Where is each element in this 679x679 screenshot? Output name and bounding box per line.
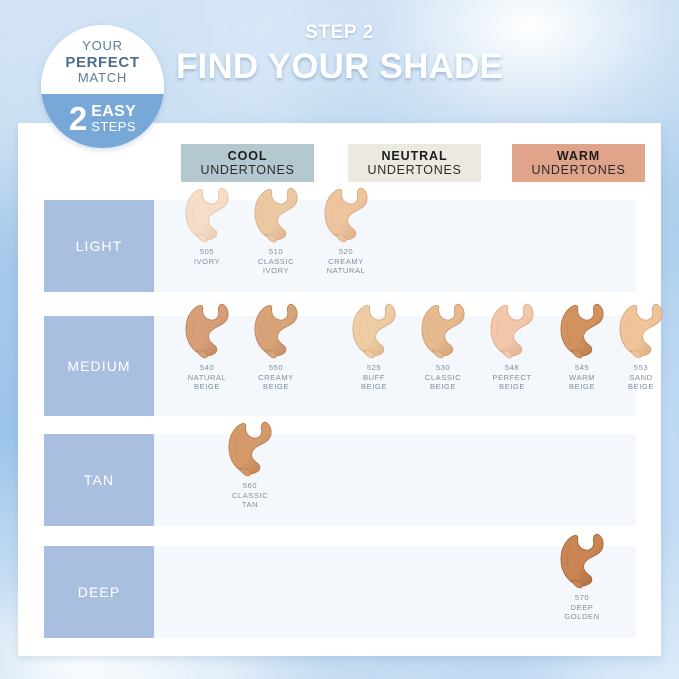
shade-caption: 553SAND BEIGE — [628, 363, 654, 392]
column-headers: COOL UNDERTONES NEUTRAL UNDERTONES WARM … — [18, 144, 661, 182]
shade-caption: 570DEEP GOLDEN — [564, 593, 599, 622]
shade-caption: 520CREAMY NATURAL — [327, 247, 366, 276]
column-header-warm-sub: UNDERTONES — [531, 163, 625, 177]
badge-top-half: YOUR PERFECT MATCH — [41, 25, 164, 94]
shade-row: TAN 560CLASSIC TAN — [44, 434, 636, 526]
shade-code: 553 — [628, 363, 654, 373]
badge-step-number: 2 — [69, 104, 87, 134]
shade-swatch[interactable]: 510CLASSIC IVORY — [242, 200, 310, 292]
foundation-smear-icon — [347, 300, 401, 362]
shade-code: 510 — [258, 247, 294, 257]
shade-swatch[interactable]: 545WARM BEIGE — [548, 316, 616, 416]
row-label-medium: MEDIUM — [44, 316, 154, 416]
shade-caption: 505IVORY — [194, 247, 220, 266]
badge-perfect-label: PERFECT — [65, 54, 139, 71]
column-header-neutral-sub: UNDERTONES — [367, 163, 461, 177]
foundation-smear-icon — [614, 300, 668, 362]
shade-swatch[interactable]: 530CLASSIC BEIGE — [409, 316, 477, 416]
column-header-cool: COOL UNDERTONES — [181, 144, 314, 182]
badge-match-label: MATCH — [78, 71, 127, 86]
foundation-smear-icon — [223, 418, 277, 480]
shade-caption: 548PERFECT BEIGE — [492, 363, 531, 392]
shade-row: LIGHT 505IVORY 510CLASSIC IVORY — [44, 200, 636, 292]
shade-swatch[interactable]: 540NATURAL BEIGE — [173, 316, 241, 416]
badge-steps-stack: EASY STEPS — [91, 104, 136, 133]
column-header-warm: WARM UNDERTONES — [512, 144, 645, 182]
shade-code: 545 — [569, 363, 595, 373]
shade-swatch[interactable]: 550CREAMY BEIGE — [242, 316, 310, 416]
perfect-match-badge: YOUR PERFECT MATCH 2 EASY STEPS — [41, 25, 164, 148]
foundation-smear-icon — [249, 300, 303, 362]
shade-swatch[interactable]: 525BUFF BEIGE — [340, 316, 408, 416]
shade-swatch[interactable]: 553SAND BEIGE — [607, 316, 675, 416]
infographic-canvas: STEP 2 FIND YOUR SHADE YOUR PERFECT MATC… — [0, 0, 679, 679]
shade-swatch[interactable]: 548PERFECT BEIGE — [478, 316, 546, 416]
shade-code: 560 — [232, 481, 268, 491]
row-label-deep: DEEP — [44, 546, 154, 638]
shade-swatch[interactable]: 520CREAMY NATURAL — [312, 200, 380, 292]
shade-caption: 560CLASSIC TAN — [232, 481, 268, 510]
foundation-smear-icon — [180, 184, 234, 246]
shade-swatch[interactable]: 505IVORY — [173, 200, 241, 292]
row-label-tan: TAN — [44, 434, 154, 526]
shade-caption: 530CLASSIC BEIGE — [425, 363, 461, 392]
shade-caption: 545WARM BEIGE — [569, 363, 595, 392]
shade-code: 550 — [258, 363, 294, 373]
foundation-smear-icon — [180, 300, 234, 362]
column-header-neutral-name: NEUTRAL — [381, 149, 447, 163]
foundation-smear-icon — [555, 300, 609, 362]
shade-code: 548 — [492, 363, 531, 373]
shade-caption: 550CREAMY BEIGE — [258, 363, 294, 392]
shade-code: 525 — [361, 363, 387, 373]
shade-chart-card: COOL UNDERTONES NEUTRAL UNDERTONES WARM … — [18, 123, 661, 656]
foundation-smear-icon — [416, 300, 470, 362]
badge-easy-label: EASY — [91, 104, 136, 120]
shade-caption: 540NATURAL BEIGE — [188, 363, 227, 392]
row-label-light: LIGHT — [44, 200, 154, 292]
column-header-cool-name: COOL — [228, 149, 268, 163]
shade-row: MEDIUM 540NATURAL BEIGE 550CREAMY BEIGE — [44, 316, 636, 416]
column-header-cool-sub: UNDERTONES — [200, 163, 294, 177]
shade-code: 530 — [425, 363, 461, 373]
foundation-smear-icon — [555, 530, 609, 592]
shade-code: 540 — [188, 363, 227, 373]
shade-caption: 510CLASSIC IVORY — [258, 247, 294, 276]
shade-code: 505 — [194, 247, 220, 257]
column-header-warm-name: WARM — [557, 149, 600, 163]
shade-swatch[interactable]: 560CLASSIC TAN — [216, 434, 284, 526]
foundation-smear-icon — [249, 184, 303, 246]
badge-your-label: YOUR — [82, 39, 123, 54]
shade-caption: 525BUFF BEIGE — [361, 363, 387, 392]
badge-steps-label: STEPS — [91, 120, 136, 133]
shade-code: 520 — [327, 247, 366, 257]
foundation-smear-icon — [319, 184, 373, 246]
shade-swatch[interactable]: 570DEEP GOLDEN — [548, 546, 616, 638]
shade-row: DEEP 570DEEP GOLDEN — [44, 546, 636, 638]
column-header-neutral: NEUTRAL UNDERTONES — [348, 144, 481, 182]
badge-bottom-half: 2 EASY STEPS — [41, 94, 164, 148]
shade-code: 570 — [564, 593, 599, 603]
foundation-smear-icon — [485, 300, 539, 362]
